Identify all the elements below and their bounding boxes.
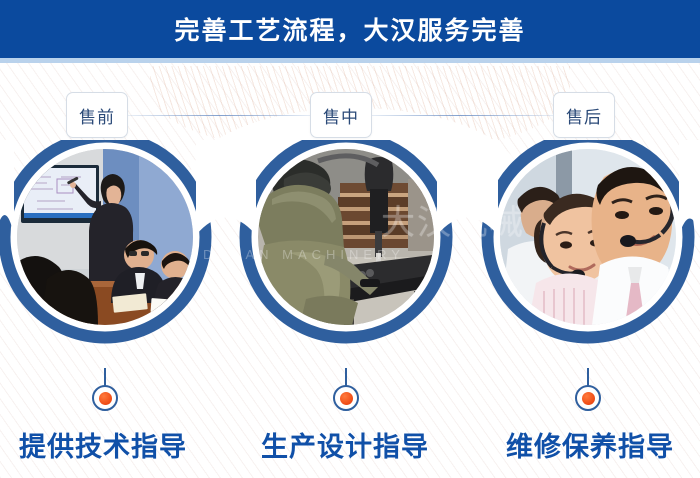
caption-presale: 提供技术指导: [0, 425, 223, 464]
step-connector-line-2: [368, 115, 554, 116]
photo-presale: [17, 149, 193, 325]
page-title: 完善工艺流程，大汉服务完善: [174, 11, 525, 47]
step-chip-label: 售后: [566, 103, 602, 128]
promo-banner: 完善工艺流程，大汉服务完善 售前 售中 售后: [0, 0, 700, 478]
header-bar: 完善工艺流程，大汉服务完善: [0, 0, 700, 58]
marker-dot: [99, 392, 112, 405]
marker-dot: [340, 392, 353, 405]
caption-aftersale: 维修保养指导: [470, 425, 700, 464]
photo-insale: [258, 149, 434, 325]
step-chip-aftersale[interactable]: 售后: [553, 92, 615, 138]
marker-stem-3: [587, 368, 589, 386]
step-chip-insale[interactable]: 售中: [310, 92, 372, 138]
marker-stem-1: [104, 368, 106, 386]
marker-stem-2: [345, 368, 347, 386]
orange-dot-marker-icon-2: [333, 385, 359, 411]
caption-insale: 生产设计指导: [225, 425, 465, 464]
orange-dot-marker-icon-1: [92, 385, 118, 411]
photo-aftersale: [500, 149, 676, 325]
step-chip-presale[interactable]: 售前: [66, 92, 128, 138]
step-connector-line-1: [128, 115, 314, 116]
marker-dot: [582, 392, 595, 405]
photo-aftersale-image: [500, 149, 676, 325]
photo-insale-image: [258, 149, 434, 325]
orange-dot-marker-icon-3: [575, 385, 601, 411]
step-chip-label: 售中: [323, 103, 359, 128]
photo-presale-image: [17, 149, 193, 325]
step-chip-label: 售前: [79, 103, 115, 128]
header-underband: [0, 58, 700, 63]
